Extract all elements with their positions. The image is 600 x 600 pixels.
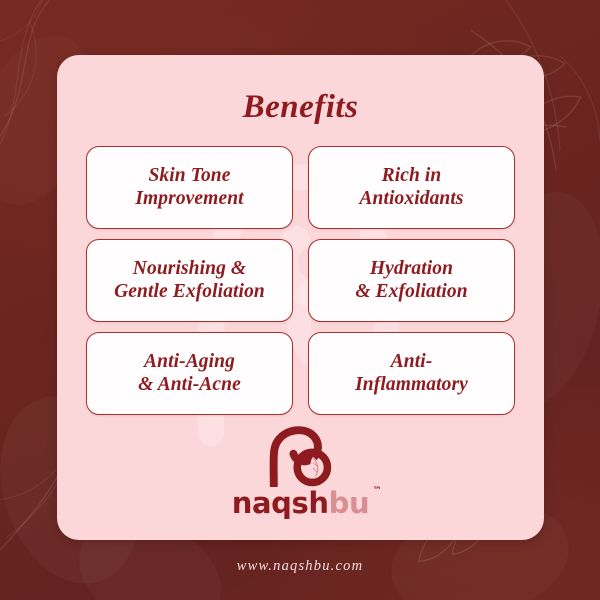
benefit-card-rich-in-antioxidants[interactable]: Rich in Antioxidants	[308, 146, 515, 229]
benefits-panel: Benefits Skin Tone Improvement Rich in A…	[57, 55, 544, 540]
brand-wordmark-secondary: bu	[329, 486, 370, 520]
benefit-card-label: Skin Tone Improvement	[135, 165, 243, 210]
benefit-card-nourishing-gentle-exfoliation[interactable]: Nourishing & Gentle Exfoliation	[86, 239, 293, 322]
benefit-card-anti-inflammatory[interactable]: Anti- Inflammatory	[308, 332, 515, 415]
benefit-card-label: Anti- Inflammatory	[355, 351, 468, 396]
benefit-card-label: Hydration & Exfoliation	[355, 258, 467, 303]
brand-wordmark-primary: naqsh	[232, 486, 329, 520]
brand-logo-lockup[interactable]: naqshbu™	[57, 425, 544, 518]
benefit-card-hydration-exfoliation[interactable]: Hydration & Exfoliation	[308, 239, 515, 322]
benefit-card-anti-aging-anti-acne[interactable]: Anti-Aging & Anti-Acne	[86, 332, 293, 415]
benefits-poster: naqshbu ™ Benefits Skin Tone Improvement…	[0, 0, 600, 600]
benefit-card-skin-tone-improvement[interactable]: Skin Tone Improvement	[86, 146, 293, 229]
benefit-card-label: Anti-Aging & Anti-Acne	[138, 351, 241, 396]
page-title: Benefits	[81, 89, 520, 126]
benefit-card-label: Rich in Antioxidants	[359, 165, 463, 210]
footer-website-url[interactable]: www.naqshbu.com	[0, 558, 600, 575]
benefits-grid: Skin Tone Improvement Rich in Antioxidan…	[81, 146, 520, 415]
trademark-icon: ™	[373, 487, 382, 496]
brand-wordmark: naqshbu™	[232, 489, 370, 518]
naqshbu-leaf-monogram-icon	[263, 425, 339, 487]
benefit-card-label: Nourishing & Gentle Exfoliation	[114, 258, 265, 303]
